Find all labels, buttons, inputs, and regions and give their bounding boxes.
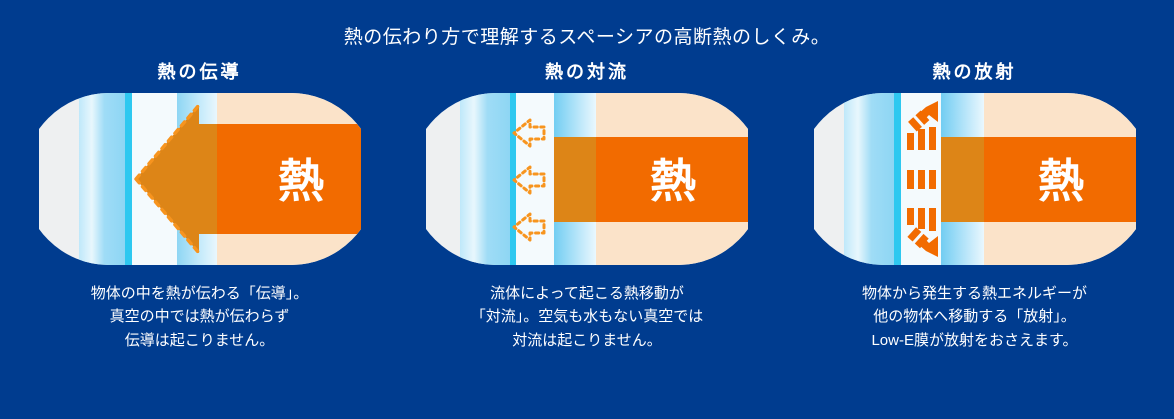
panel-radiation: 熱の放射 (797, 58, 1152, 352)
caption-line: 真空の中では熱が伝わらず (91, 305, 309, 328)
caption-line: 流体によって起こる熱移動が (471, 282, 704, 305)
heat-label-radiation: 熱 (1038, 155, 1084, 207)
caption-line: 物体の中を熱が伝わる「伝導」。 (91, 282, 309, 305)
caption-line: 対流は起こりません。 (471, 329, 704, 352)
heat-band-glass-overlay (941, 137, 984, 222)
radiation-bars-middle (907, 170, 936, 189)
diagram-convection: 熱 (426, 93, 748, 265)
panel-body-conduction: 熱 (39, 93, 361, 265)
lowe-film-stripe (125, 93, 132, 265)
caption-conduction: 物体の中を熱が伝わる「伝導」。 真空の中では熱が伝わらず 伝導は起こりません。 (91, 282, 309, 352)
caption-line: Low-E膜が放射をおさえます。 (862, 329, 1087, 352)
panel-columns: 熱の伝導 (0, 58, 1174, 352)
vacuum-gap (516, 93, 554, 265)
glass-pane-outer (460, 93, 510, 265)
panel-heading-convection: 熱の対流 (545, 58, 629, 84)
heat-label-convection: 熱 (650, 155, 696, 207)
caption-radiation: 物体から発生する熱エネルギーが 他の物体へ移動する「放射」。 Low-E膜が放射… (862, 282, 1087, 352)
caption-line: 「対流」。空気も水もない真空では (471, 305, 704, 328)
diagram-conduction: 熱 (39, 93, 361, 265)
heat-label-conduction: 熱 (278, 155, 324, 207)
page-title: 熱の伝わり方で理解するスペーシアの高断熱のしくみ。 (0, 22, 1174, 49)
glass-pane-outer (79, 93, 125, 265)
panel-heading-conduction: 熱の伝導 (158, 58, 242, 84)
infographic-page: 熱の伝わり方で理解するスペーシアの高断熱のしくみ。 熱の伝導 (0, 0, 1174, 419)
panel-body-convection: 熱 (426, 93, 748, 265)
panel-body-radiation: 熱 (814, 93, 1136, 265)
caption-line: 物体から発生する熱エネルギーが (862, 282, 1087, 305)
caption-line: 他の物体へ移動する「放射」。 (862, 305, 1087, 328)
glass-pane-outer (844, 93, 894, 265)
heat-band-glass-overlay (554, 137, 596, 222)
panel-heading-radiation: 熱の放射 (933, 58, 1017, 84)
panel-conduction: 熱の伝導 (22, 58, 377, 352)
lowe-film-stripe (894, 93, 901, 265)
caption-convection: 流体によって起こる熱移動が 「対流」。空気も水もない真空では 対流は起こりません… (471, 282, 704, 352)
diagram-radiation: 熱 (814, 93, 1136, 265)
caption-line: 伝導は起こりません。 (91, 329, 309, 352)
panel-convection: 熱の対流 (410, 58, 765, 352)
